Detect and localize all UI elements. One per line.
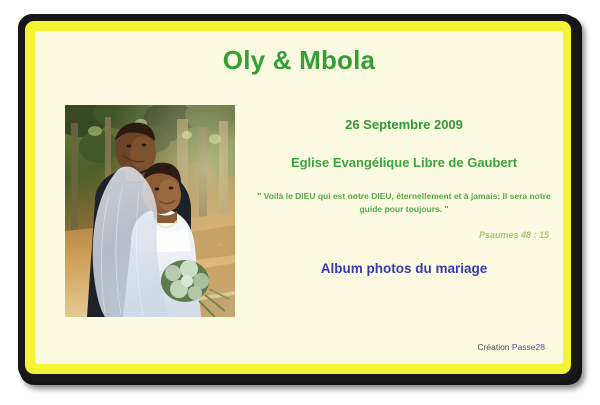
credit-prefix: Création: [477, 342, 512, 352]
verse-reference: Psaumes 48 : 15: [245, 230, 563, 240]
wedding-couple-photo: [65, 105, 235, 317]
card-content-area: Oly & Mbola: [35, 31, 563, 364]
footer-credit: Création Passe28: [477, 342, 545, 352]
bible-verse: '' Voilà le DIEU qui est notre DIEU, éte…: [245, 190, 563, 216]
album-photos-link[interactable]: Album photos du mariage: [245, 261, 563, 276]
credit-brand-link[interactable]: Passe28: [512, 342, 545, 352]
wedding-date: 26 Septembre 2009: [245, 117, 563, 132]
wedding-venue: Eglise Evangélique Libre de Gaubert: [245, 155, 563, 170]
details-column: 26 Septembre 2009 Eglise Evangélique Lib…: [245, 117, 563, 276]
page-title: Oly & Mbola: [35, 45, 563, 76]
page-root: Oly & Mbola: [0, 0, 600, 405]
